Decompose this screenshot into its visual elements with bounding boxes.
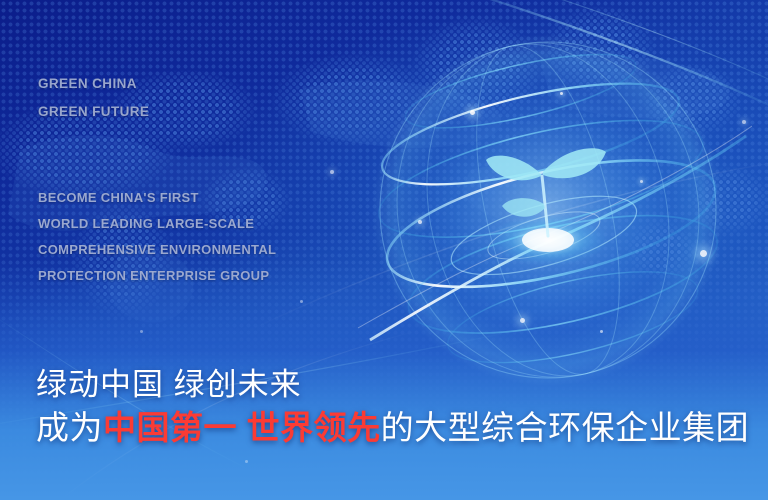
tagline-english: GREEN CHINA GREEN FUTURE: [38, 70, 149, 126]
subline-line-1: BECOME CHINA'S FIRST: [38, 185, 276, 211]
headline-suffix: 的大型综合环保企业集团: [381, 409, 750, 446]
subline-line-3: COMPREHENSIVE ENVIRONMENTAL: [38, 237, 276, 263]
tagline-line-2: GREEN FUTURE: [38, 98, 149, 126]
hero-banner: GREEN CHINA GREEN FUTURE BECOME CHINA'S …: [0, 0, 768, 500]
subline-english: BECOME CHINA'S FIRST WORLD LEADING LARGE…: [38, 185, 276, 289]
headline-highlight: 中国第一 世界领先: [103, 409, 381, 446]
subline-line-2: WORLD LEADING LARGE-SCALE: [38, 211, 276, 237]
headline-line-2: 成为中国第一 世界领先的大型综合环保企业集团: [36, 406, 749, 450]
tagline-line-1: GREEN CHINA: [38, 70, 149, 98]
headline-line-1: 绿动中国 绿创未来: [36, 364, 749, 406]
headline-chinese: 绿动中国 绿创未来 成为中国第一 世界领先的大型综合环保企业集团: [36, 364, 749, 450]
subline-line-4: PROTECTION ENTERPRISE GROUP: [38, 263, 276, 289]
headline-prefix: 成为: [36, 409, 103, 446]
